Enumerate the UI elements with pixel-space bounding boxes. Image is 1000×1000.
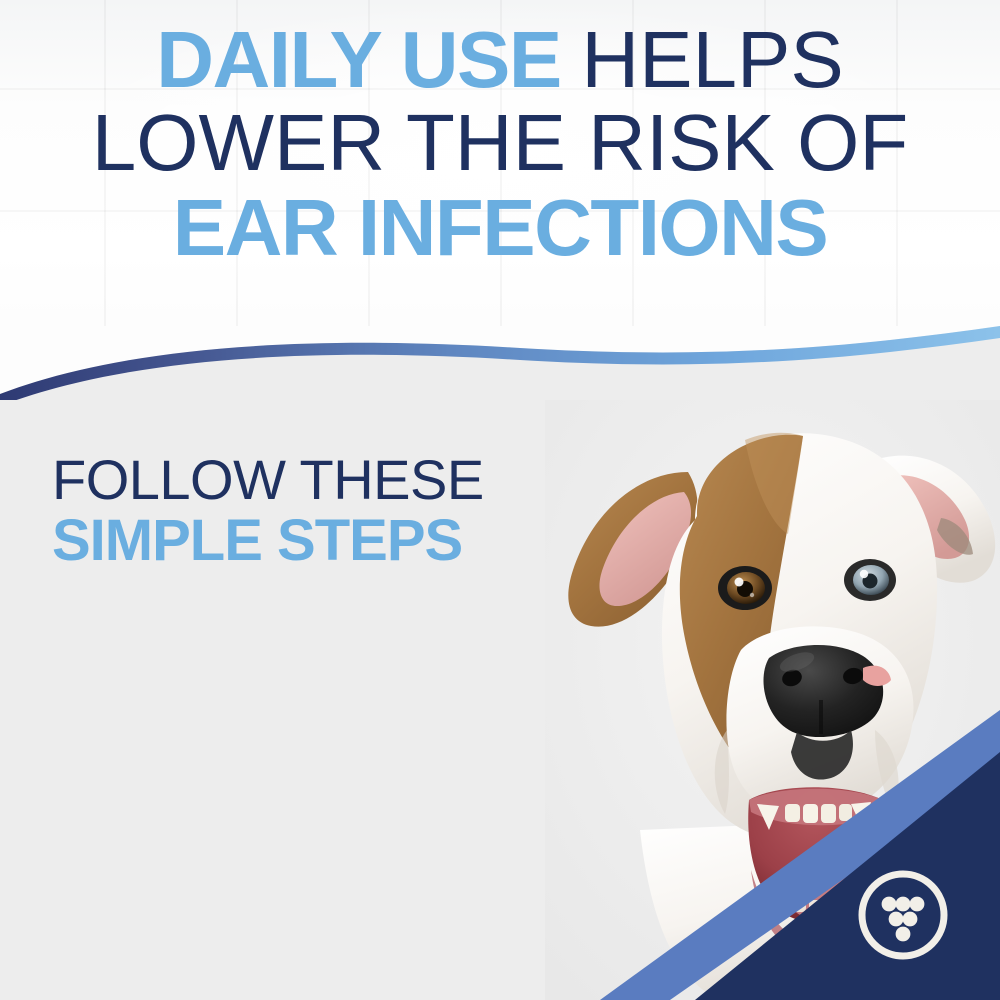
logo-dot-6 [896,927,911,942]
promo-card: DAILY USE HELPS LOWER THE RISK OF EAR IN… [0,0,1000,1000]
six-dot-circle-logo [853,865,953,965]
logo-dot-2 [896,897,911,912]
headline-helps: HELPS [581,15,843,104]
headline-line-3: EAR INFECTIONS [0,190,1000,267]
headline-line-1: DAILY USE HELPS [0,22,1000,99]
logo-dot-3 [910,897,925,912]
section-heading: FOLLOW THESE SIMPLE STEPS [52,452,484,570]
logo-dot-1 [882,897,897,912]
dog-nose [763,645,883,737]
logo-dot-5 [903,912,918,927]
headline-accent-daily-use: DAILY USE [156,15,581,104]
headline-line-2: LOWER THE RISK OF [0,105,1000,182]
logo-dot-4 [889,912,904,927]
section-heading-line-1: FOLLOW THESE [52,452,484,508]
section-heading-line-2: SIMPLE STEPS [52,512,484,570]
headline: DAILY USE HELPS LOWER THE RISK OF EAR IN… [0,22,1000,266]
header-panel: DAILY USE HELPS LOWER THE RISK OF EAR IN… [0,0,1000,352]
